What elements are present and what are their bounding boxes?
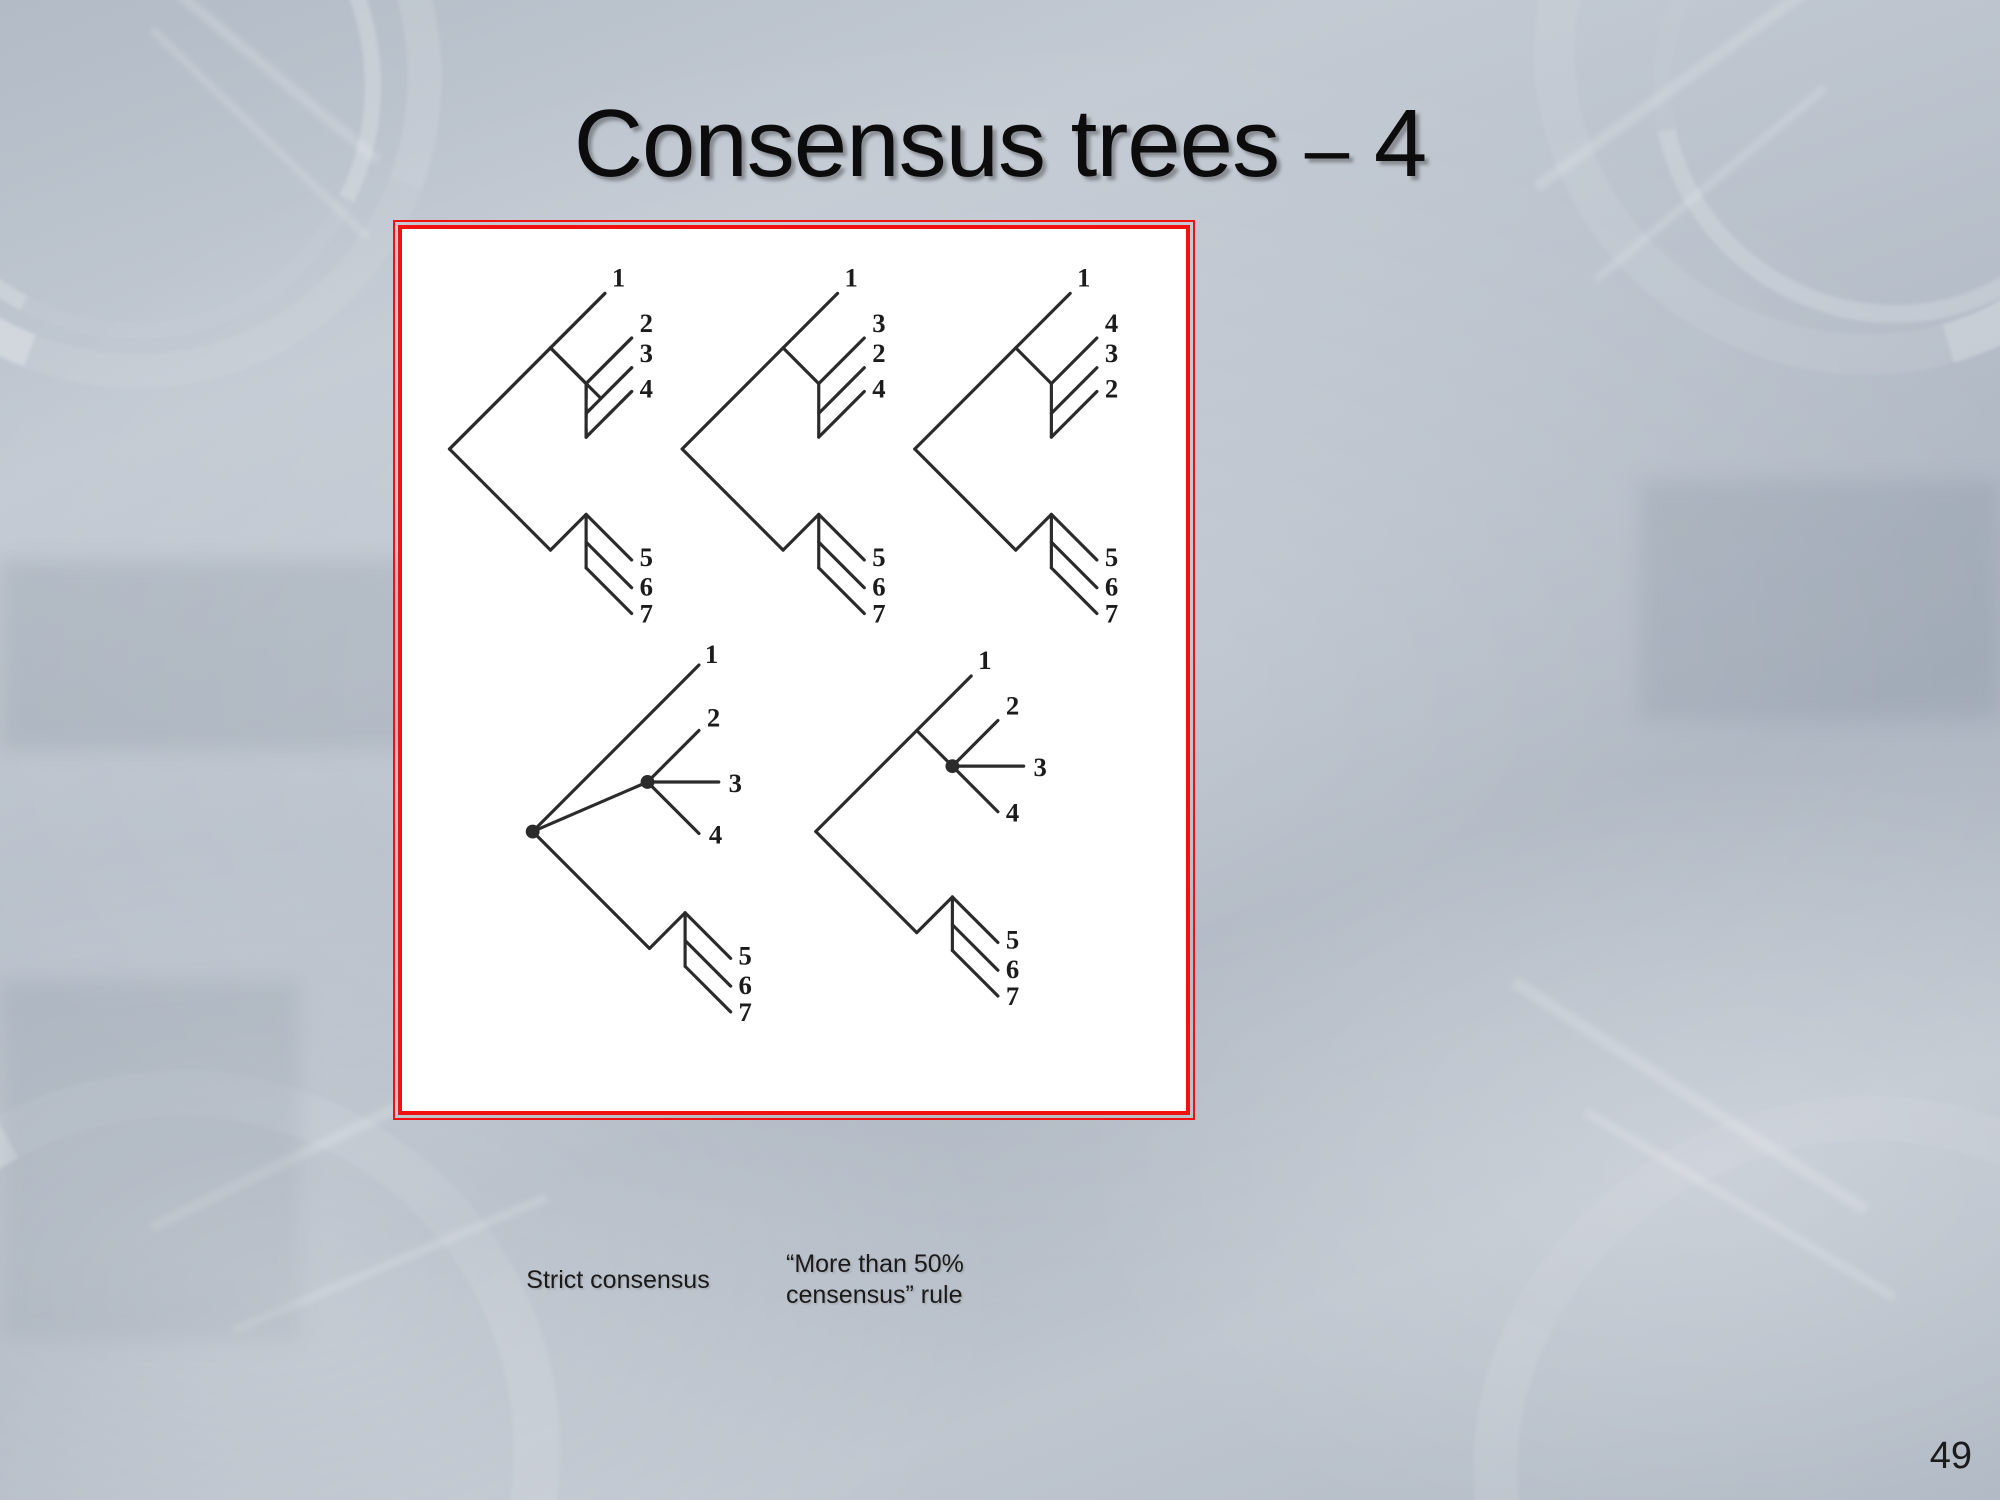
page-number: 49 xyxy=(1930,1435,1972,1478)
tree-strict-consensus xyxy=(533,665,731,1012)
leaf-label: 6 xyxy=(872,572,885,602)
leaf-label: 3 xyxy=(729,768,742,798)
leaf-label: 7 xyxy=(1105,598,1118,628)
leaf-label: 6 xyxy=(739,970,752,1000)
figure-panel: 1 2 3 4 5 6 7 1 3 2 4 5 6 7 xyxy=(398,225,1190,1115)
leaf-label: 4 xyxy=(1006,798,1019,828)
figure-panel-inner: 1 2 3 4 5 6 7 1 3 2 4 5 6 7 xyxy=(402,229,1186,1111)
leaf-label: 2 xyxy=(1105,373,1118,403)
leaf-label: 5 xyxy=(739,940,752,970)
tree-majority-rule-consensus-leaf-labels: 1 2 3 4 5 6 7 xyxy=(978,645,1047,1011)
consensus-trees-diagram: 1 2 3 4 5 6 7 1 3 2 4 5 6 7 xyxy=(402,229,1186,1111)
leaf-label: 5 xyxy=(872,542,885,572)
leaf-label: 4 xyxy=(640,373,653,403)
leaf-label: 3 xyxy=(872,308,885,338)
leaf-label: 2 xyxy=(872,338,885,368)
tree-input-3 xyxy=(915,293,1097,613)
leaf-label: 4 xyxy=(709,819,722,849)
leaf-label: 6 xyxy=(640,572,653,602)
leaf-label: 3 xyxy=(640,338,653,368)
leaf-label: 7 xyxy=(1006,981,1019,1011)
leaf-label: 3 xyxy=(1105,338,1118,368)
leaf-label: 4 xyxy=(1105,308,1118,338)
leaf-label: 6 xyxy=(1006,954,1019,984)
tree-input-2 xyxy=(682,293,864,613)
caption-majority-rule: “More than 50% censensus” rule xyxy=(786,1249,1086,1310)
leaf-label: 7 xyxy=(739,997,752,1027)
tree-majority-rule-consensus xyxy=(816,676,1024,996)
leaf-label: 6 xyxy=(1105,572,1118,602)
leaf-label: 7 xyxy=(640,598,653,628)
leaf-label: 7 xyxy=(872,598,885,628)
leaf-label: 1 xyxy=(705,639,718,669)
page-title-main: Consensus trees xyxy=(574,90,1305,197)
page-title-dash: – xyxy=(1305,104,1349,193)
leaf-label: 5 xyxy=(1105,542,1118,572)
leaf-label: 1 xyxy=(844,262,857,292)
polytomy-node-strict-basal xyxy=(526,825,540,839)
leaf-label: 1 xyxy=(612,262,625,292)
caption-strict-consensus: Strict consensus xyxy=(488,1265,748,1296)
leaf-label: 4 xyxy=(872,373,885,403)
leaf-label: 2 xyxy=(1006,691,1019,721)
leaf-label: 3 xyxy=(1034,752,1047,782)
leaf-label: 5 xyxy=(640,542,653,572)
page-title-tail: 4 xyxy=(1348,90,1426,197)
leaf-label: 2 xyxy=(707,702,720,732)
page-title: Consensus trees – 4 xyxy=(0,96,2000,192)
leaf-label: 5 xyxy=(1006,924,1019,954)
leaf-label: 1 xyxy=(978,645,991,675)
leaf-label: 2 xyxy=(640,308,653,338)
polytomy-node-strict-234 xyxy=(641,775,655,789)
tree-input-1 xyxy=(450,293,632,613)
polytomy-node-majority-234 xyxy=(945,759,959,773)
leaf-label: 1 xyxy=(1077,262,1090,292)
